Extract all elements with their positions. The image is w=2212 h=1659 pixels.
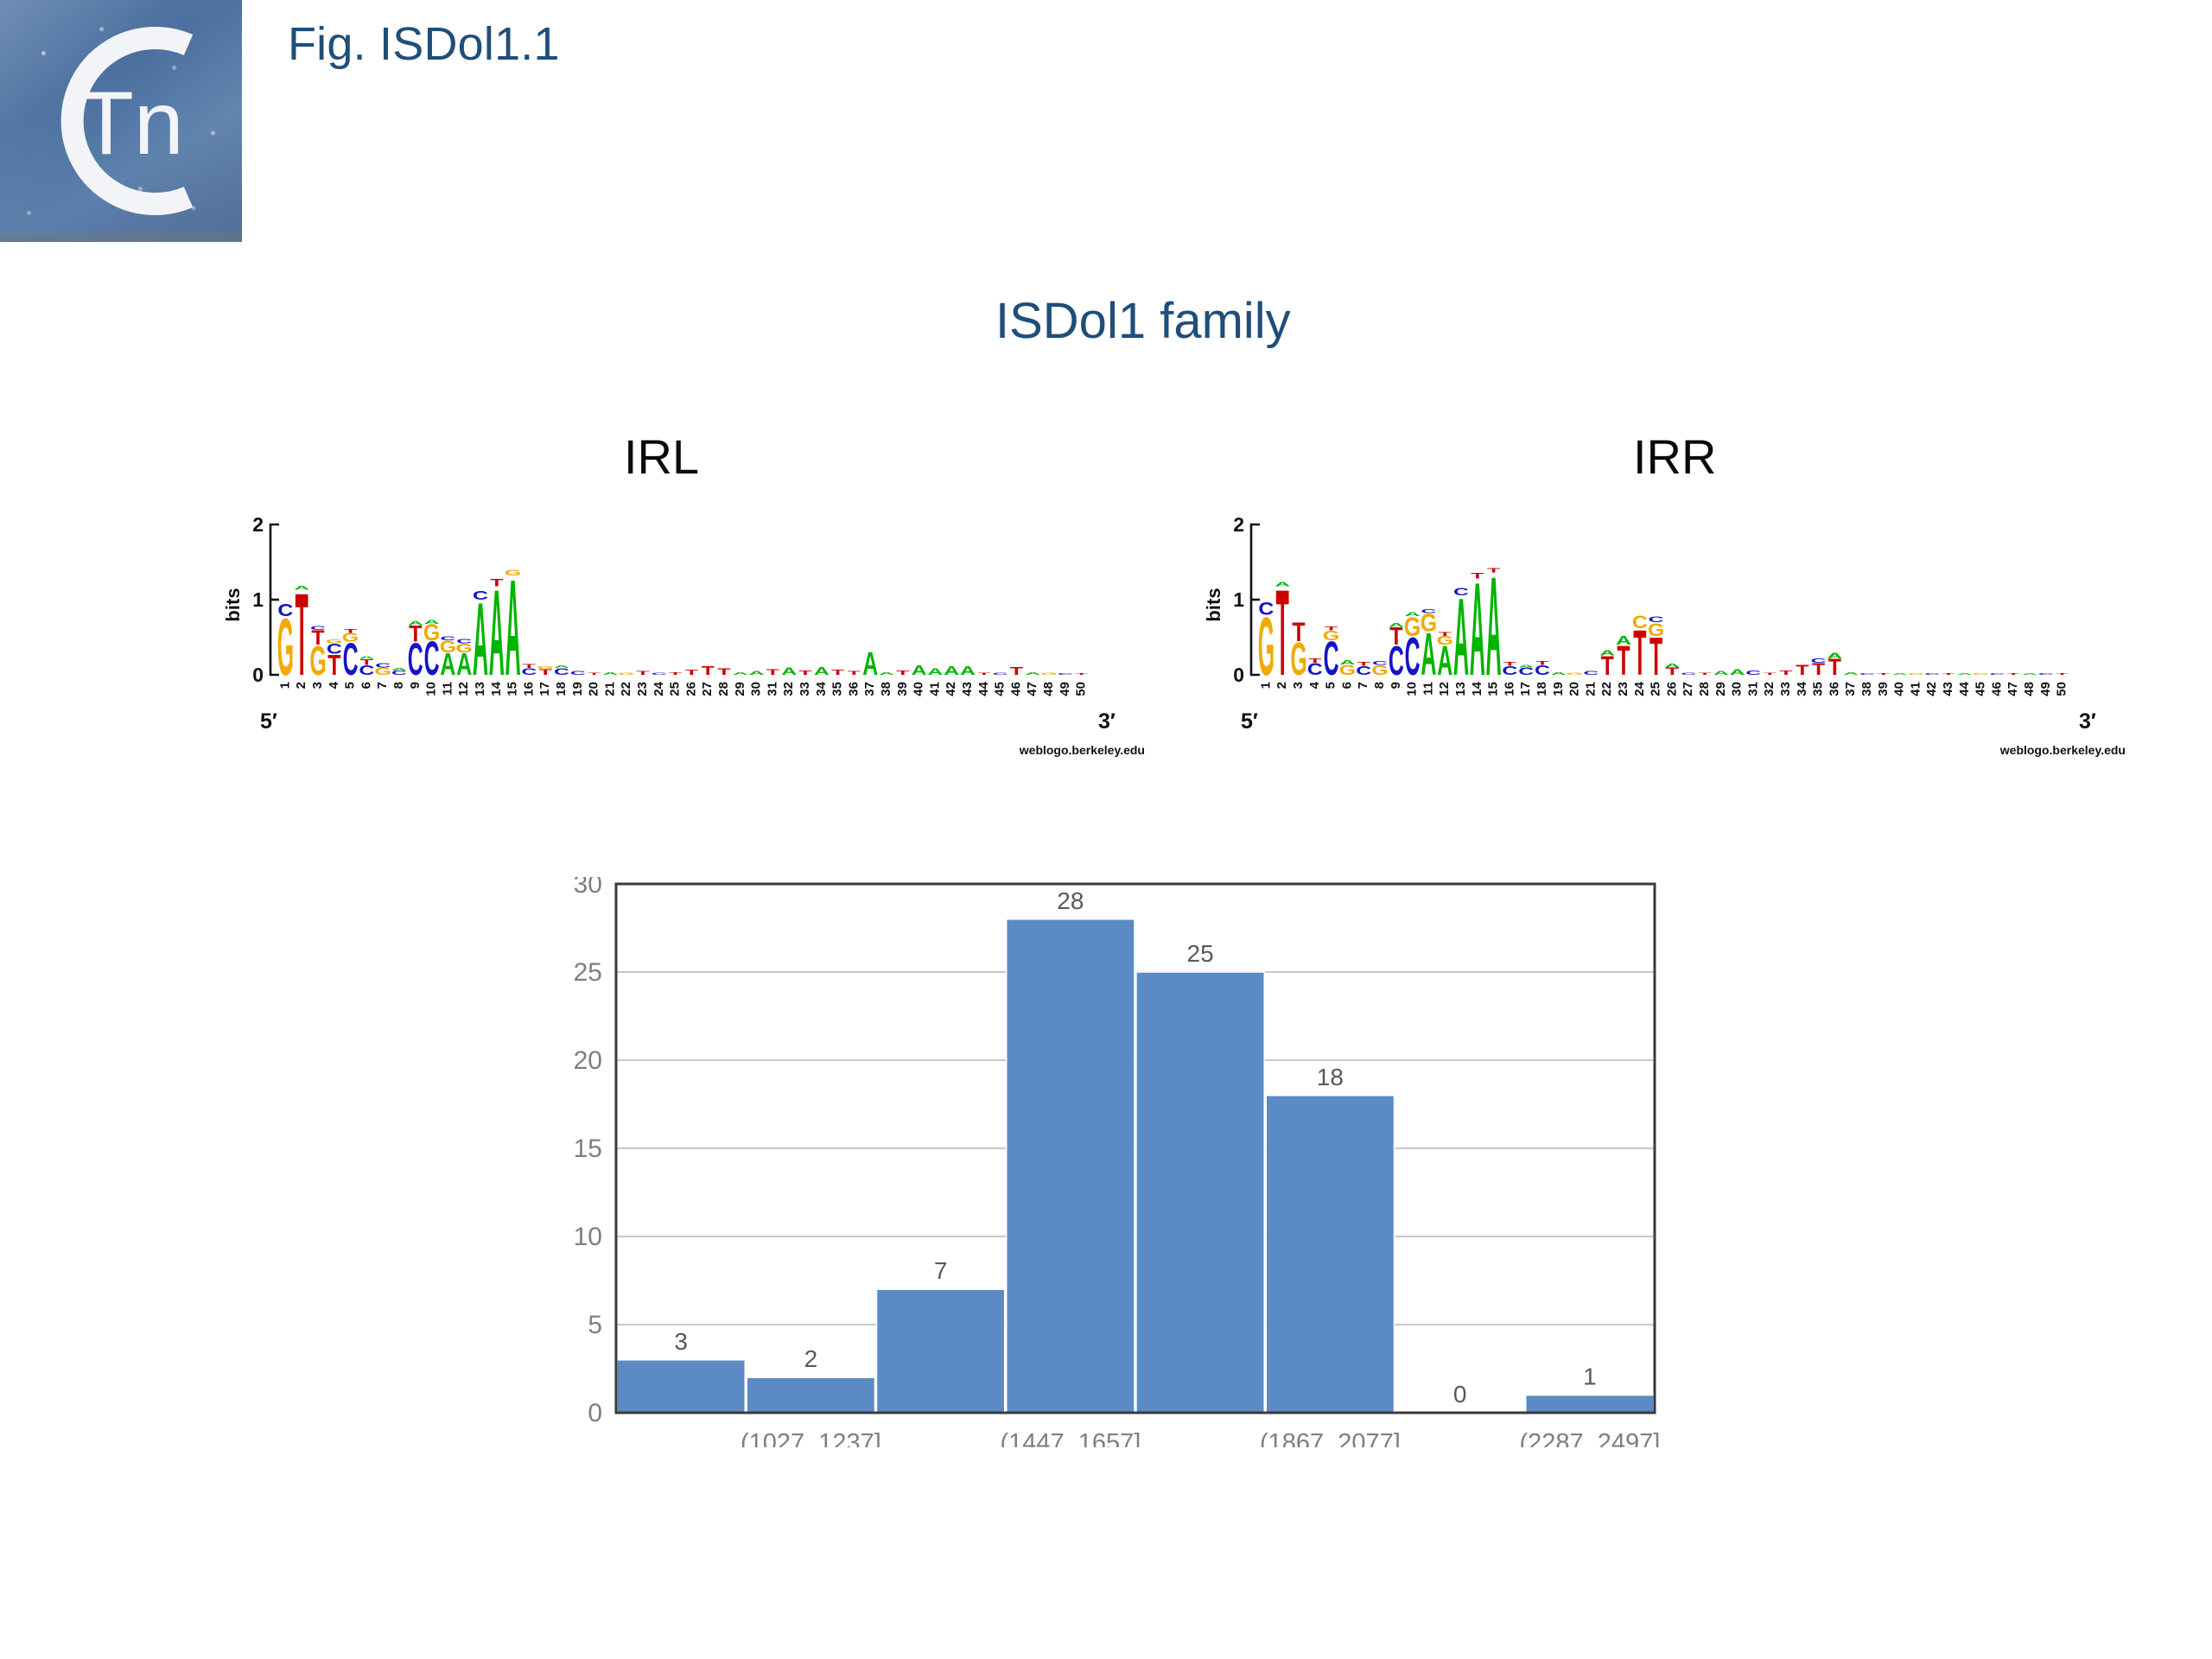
- bar-value-label: 25: [1187, 940, 1214, 967]
- logo-letter: T: [717, 667, 731, 677]
- svg-text:A: A: [1892, 673, 1908, 676]
- position-tick-label: 29: [733, 682, 747, 696]
- position-tick-label: 5: [1324, 682, 1338, 689]
- logo-letter: A: [1664, 663, 1680, 669]
- svg-text:T: T: [1942, 673, 1955, 676]
- position-tick-label: 31: [765, 682, 779, 696]
- y-axis-tick-label: 10: [574, 1223, 602, 1251]
- logo-letter: T: [2007, 673, 2020, 676]
- svg-text:A: A: [1339, 658, 1355, 665]
- svg-text:C: C: [652, 672, 667, 676]
- position-tick-label: 36: [1827, 682, 1841, 696]
- svg-text:C: C: [2038, 673, 2054, 676]
- logo-letter: C: [1745, 669, 1761, 676]
- logo-letter: A: [424, 620, 440, 626]
- three-prime-label: 3′: [1098, 709, 1116, 734]
- position-tick-label: 38: [879, 682, 893, 696]
- svg-text:A: A: [1957, 673, 1973, 676]
- logo-letter: T: [1877, 673, 1890, 676]
- logo-letter: T: [1764, 672, 1777, 676]
- position-tick-label: 35: [1811, 682, 1826, 696]
- svg-text:C: C: [1372, 660, 1388, 666]
- x-axis-category-label: (1027, 1237]: [741, 1429, 881, 1447]
- position-tick-label: 7: [1356, 682, 1370, 689]
- svg-text:T: T: [685, 668, 699, 676]
- svg-text:A: A: [602, 671, 618, 676]
- logo-letter: T: [1503, 661, 1516, 667]
- svg-text:A: A: [1843, 671, 1859, 676]
- svg-text:C: C: [1924, 673, 1940, 676]
- logo-letter: A: [912, 663, 927, 677]
- svg-text:C: C: [1583, 671, 1599, 677]
- x-axis-category-label: (1447, 1657]: [1000, 1429, 1141, 1447]
- svg-text:A: A: [912, 663, 927, 677]
- svg-text:C: C: [456, 638, 472, 645]
- logo-letter: C: [1453, 586, 1469, 598]
- svg-text:A: A: [960, 664, 976, 678]
- position-tick-label: 19: [570, 682, 585, 696]
- ctn-logo-badge: Tn: [0, 0, 242, 242]
- position-tick-label: 22: [1599, 682, 1614, 696]
- position-tick-label: 28: [716, 682, 731, 696]
- logo-letter: T: [798, 669, 811, 676]
- bar-value-label: 3: [674, 1328, 688, 1355]
- svg-text:A: A: [1599, 649, 1615, 657]
- logo-letter: T: [702, 664, 715, 678]
- logo-letter: T: [669, 671, 682, 676]
- position-tick-label: 41: [927, 682, 942, 696]
- position-tick-label: 48: [1041, 682, 1056, 696]
- position-tick-label: 27: [700, 682, 715, 696]
- position-tick-label: 34: [814, 681, 829, 696]
- bits-axis-label: bits: [222, 588, 244, 621]
- position-tick-label: 25: [668, 682, 683, 696]
- position-tick-label: 44: [1957, 681, 1972, 696]
- logo-letter: A: [359, 655, 374, 659]
- position-tick-label: 16: [1502, 682, 1516, 696]
- logo-letter: C: [1924, 673, 1940, 676]
- svg-text:A: A: [862, 645, 878, 683]
- position-tick-label: 49: [2038, 682, 2053, 696]
- position-tick-label: 12: [456, 682, 471, 696]
- histogram-bar: [877, 1289, 1005, 1413]
- position-tick-label: 4: [327, 681, 341, 689]
- logo-letter: A: [602, 671, 618, 676]
- svg-text:A: A: [359, 655, 374, 659]
- position-tick-label: 38: [1859, 682, 1874, 696]
- logo-letter: T: [896, 669, 909, 676]
- svg-text:T: T: [2007, 673, 2020, 676]
- svg-text:C: C: [1421, 608, 1436, 614]
- svg-text:T: T: [1325, 626, 1338, 632]
- svg-text:T: T: [1535, 660, 1548, 666]
- logo-letter: C: [1583, 671, 1599, 677]
- svg-text:T: T: [1764, 672, 1777, 676]
- svg-text:A: A: [1730, 667, 1745, 677]
- logo-letter: A: [749, 671, 765, 677]
- logo-letter: C: [1372, 660, 1388, 666]
- svg-text:T: T: [523, 664, 536, 670]
- svg-text:T: T: [490, 577, 503, 589]
- logo-letter: C: [2038, 673, 2054, 676]
- position-tick-label: 24: [1632, 681, 1647, 696]
- position-tick-label: 23: [1616, 682, 1630, 696]
- position-tick-label: 39: [895, 682, 910, 696]
- logo-letter: A: [391, 666, 407, 671]
- svg-text:T: T: [1439, 631, 1452, 637]
- logo-letter: T: [1698, 672, 1711, 676]
- logo-letter: G: [537, 665, 554, 670]
- logo-letter: A: [1730, 667, 1745, 677]
- logo-letter: A: [733, 671, 748, 676]
- svg-text:G: G: [619, 672, 635, 676]
- logo-letter: A: [814, 665, 829, 678]
- bar-value-label: 1: [1583, 1363, 1597, 1390]
- bits-tick-label: 2: [252, 513, 264, 536]
- position-tick-label: 11: [440, 682, 454, 696]
- bar-value-label: 7: [934, 1257, 948, 1284]
- svg-text:A: A: [2022, 673, 2037, 676]
- histogram-bar: [617, 1360, 745, 1413]
- svg-text:G: G: [1567, 672, 1583, 676]
- position-tick-label: 21: [602, 682, 617, 696]
- position-tick-label: 37: [862, 682, 877, 696]
- svg-text:A: A: [1827, 651, 1842, 660]
- position-tick-label: 3: [1291, 682, 1306, 689]
- logo-letter: A: [2022, 673, 2037, 676]
- logo-letter: C: [1421, 608, 1436, 614]
- logo-letter: T: [685, 668, 699, 676]
- logo-letter: G: [505, 569, 521, 578]
- logo-letter: C: [277, 600, 293, 620]
- logo-letter: A: [1389, 622, 1404, 628]
- logo-letter: T: [1325, 626, 1338, 632]
- bar-value-label: 2: [804, 1345, 818, 1372]
- position-tick-label: 29: [1713, 682, 1728, 696]
- svg-text:A: A: [1616, 634, 1631, 648]
- svg-text:T: T: [798, 669, 811, 676]
- svg-text:G: G: [326, 639, 342, 645]
- logo-letter: C: [1058, 673, 1073, 676]
- logo-letter: T: [977, 672, 990, 676]
- svg-text:C: C: [310, 625, 326, 631]
- svg-text:C: C: [1859, 673, 1875, 676]
- logo-letter: C: [1649, 614, 1664, 624]
- position-tick-label: 37: [1843, 682, 1858, 696]
- logo-letter: A: [1405, 612, 1421, 618]
- position-tick-label: 30: [749, 682, 764, 696]
- svg-text:T: T: [702, 664, 715, 678]
- three-prime-label: 3′: [2079, 709, 2096, 734]
- svg-text:C: C: [993, 672, 1008, 676]
- svg-text:C: C: [1681, 672, 1696, 676]
- position-tick-label: 1: [1258, 682, 1273, 689]
- svg-text:A: A: [408, 620, 423, 626]
- position-tick-label: 18: [1535, 682, 1549, 696]
- svg-text:G: G: [1040, 672, 1057, 676]
- position-tick-label: 15: [505, 682, 520, 696]
- position-tick-label: 17: [537, 682, 552, 696]
- svg-text:T: T: [1471, 571, 1484, 581]
- logo-letter: T: [344, 628, 357, 634]
- histogram-bar: [1136, 972, 1264, 1413]
- logo-letter: T: [490, 577, 503, 589]
- y-axis-tick-label: 5: [588, 1311, 602, 1339]
- logo-letter: C: [1811, 657, 1827, 664]
- logo-letter: T: [1292, 616, 1305, 646]
- position-tick-label: 24: [652, 681, 666, 696]
- svg-text:A: A: [733, 671, 748, 676]
- position-tick-label: 23: [635, 682, 650, 696]
- irr-label: IRR: [1633, 429, 1716, 485]
- svg-text:A: A: [1025, 671, 1040, 676]
- logo-letter: A: [879, 671, 894, 676]
- position-tick-label: 50: [1074, 682, 1089, 696]
- logo-letter: T: [2056, 673, 2069, 676]
- position-tick-label: 19: [1551, 682, 1566, 696]
- svg-text:T: T: [896, 669, 909, 676]
- logo-letter: T: [848, 671, 861, 677]
- svg-text:T: T: [1877, 673, 1890, 676]
- position-tick-label: 43: [1941, 682, 1955, 696]
- svg-text:T: T: [1779, 669, 1792, 676]
- logo-letter: A: [408, 620, 423, 626]
- svg-text:C: C: [1058, 673, 1073, 676]
- position-tick-label: 13: [1453, 682, 1468, 696]
- logo-letter: T: [766, 667, 780, 677]
- svg-text:T: T: [848, 671, 861, 677]
- bits-tick-label: 0: [252, 664, 264, 686]
- logo-letter: A: [1551, 671, 1567, 676]
- logo-letter: G: [1040, 672, 1057, 676]
- svg-text:C: C: [473, 589, 488, 603]
- position-tick-label: 28: [1697, 682, 1712, 696]
- logo-letter: G: [619, 672, 635, 676]
- logo-letter: A: [1599, 649, 1615, 657]
- logo-letter: C: [440, 636, 455, 642]
- position-tick-label: 32: [781, 682, 796, 696]
- svg-text:T: T: [1487, 567, 1500, 574]
- logo-letter: C: [1258, 598, 1274, 619]
- svg-text:C: C: [1989, 673, 2005, 676]
- svg-text:A: A: [1274, 581, 1290, 588]
- position-tick-label: 2: [294, 682, 308, 689]
- logo-letter: T: [1796, 663, 1808, 678]
- position-tick-label: 34: [1795, 681, 1809, 696]
- position-tick-label: 10: [424, 682, 439, 696]
- logo-letter: C: [993, 672, 1008, 676]
- svg-text:T: T: [977, 672, 990, 676]
- position-tick-label: 26: [683, 682, 698, 696]
- logo-letter: C: [473, 589, 488, 603]
- y-axis-tick-label: 0: [588, 1399, 602, 1427]
- logo-letter: T: [588, 672, 601, 676]
- svg-text:C: C: [1632, 612, 1648, 632]
- position-tick-label: 7: [375, 682, 390, 689]
- histogram-bar: [1266, 1096, 1394, 1413]
- logo-letter: C: [1632, 612, 1648, 632]
- svg-text:T: T: [831, 668, 845, 676]
- logo-letter: C: [1859, 673, 1875, 676]
- irl-label: IRL: [624, 429, 699, 485]
- position-tick-label: 25: [1649, 682, 1663, 696]
- position-tick-label: 26: [1664, 682, 1679, 696]
- ctn-logo-graphic: Tn: [0, 0, 242, 242]
- svg-text:T: T: [1357, 661, 1370, 667]
- histogram-bar: [1526, 1395, 1654, 1413]
- histogram-bar: [747, 1377, 874, 1413]
- svg-text:T: T: [588, 672, 601, 676]
- position-tick-label: 21: [1583, 682, 1598, 696]
- logo-letter: G: [326, 639, 342, 645]
- logo-letter: C: [652, 672, 667, 676]
- logo-letter: T: [1779, 669, 1792, 676]
- logo-letter: T: [831, 668, 845, 676]
- logo-letter: A: [927, 667, 943, 677]
- y-axis-tick-label: 30: [574, 877, 602, 899]
- svg-text:T: T: [344, 628, 357, 634]
- x-axis-category-label: (2287, 2497]: [1519, 1429, 1660, 1447]
- logo-letter: A: [1957, 673, 1973, 676]
- svg-text:T: T: [2056, 673, 2069, 676]
- svg-text:A: A: [391, 666, 407, 671]
- position-tick-label: 40: [912, 682, 926, 696]
- svg-text:C: C: [1258, 598, 1274, 619]
- position-tick-label: 36: [846, 682, 861, 696]
- bar-value-label: 0: [1453, 1381, 1467, 1408]
- weblogo-watermark: weblogo.berkeley.edu: [1019, 743, 1145, 757]
- position-tick-label: 12: [1437, 682, 1452, 696]
- svg-text:C: C: [1453, 586, 1469, 598]
- position-tick-label: 43: [960, 682, 975, 696]
- svg-text:C: C: [375, 662, 391, 669]
- position-tick-label: 16: [521, 682, 536, 696]
- logo-letter: A: [1616, 634, 1631, 648]
- svg-text:T: T: [1308, 657, 1321, 664]
- svg-text:A: A: [424, 620, 440, 626]
- weblogo-watermark: weblogo.berkeley.edu: [1999, 743, 2126, 757]
- svg-text:T: T: [1503, 661, 1516, 667]
- svg-text:A: A: [927, 667, 943, 677]
- svg-text:A: A: [1518, 664, 1534, 668]
- logo-letter: T: [1535, 660, 1548, 666]
- position-tick-label: 15: [1486, 682, 1501, 696]
- y-axis-tick-label: 20: [574, 1046, 602, 1075]
- svg-text:C: C: [1811, 657, 1827, 664]
- svg-text:T: T: [669, 671, 682, 676]
- position-tick-label: 44: [976, 681, 991, 696]
- position-tick-label: 35: [830, 682, 845, 696]
- position-tick-label: 11: [1421, 682, 1435, 696]
- position-tick-label: 47: [1025, 682, 1039, 696]
- position-tick-label: 5: [343, 682, 358, 689]
- five-prime-label: 5′: [260, 709, 277, 734]
- bar-value-label: 18: [1317, 1064, 1344, 1090]
- logo-letter: G: [1908, 673, 1924, 676]
- sequence-logo-irl: bits012GCTAGTCTCGCGTCTAGCCACTACGAAGCAGCA…: [220, 505, 1154, 782]
- svg-text:A: A: [1664, 663, 1680, 669]
- logo-letter: T: [523, 664, 536, 670]
- histogram-bar: [1007, 919, 1135, 1413]
- logo-letter: A: [1713, 671, 1729, 677]
- logo-letter: T: [1308, 657, 1321, 664]
- bits-tick-label: 1: [1233, 588, 1244, 611]
- logo-letter: A: [1339, 658, 1355, 665]
- y-axis-tick-label: 25: [574, 958, 602, 987]
- position-tick-label: 33: [798, 682, 812, 696]
- logo-letter: T: [1942, 673, 1955, 676]
- svg-text:T: T: [1292, 616, 1305, 646]
- position-tick-label: 30: [1730, 682, 1745, 696]
- logo-letter: G: [1973, 673, 1989, 676]
- logo-letter: A: [1892, 673, 1908, 676]
- logo-letter: T: [1075, 673, 1088, 676]
- logo-letter: G: [1567, 672, 1583, 676]
- position-tick-label: 45: [993, 682, 1007, 696]
- position-tick-label: 33: [1778, 682, 1793, 696]
- logo-letter: T: [1010, 665, 1023, 678]
- position-tick-label: 49: [1058, 682, 1072, 696]
- svg-text:C: C: [1745, 669, 1761, 676]
- logo-letter: T: [636, 671, 649, 677]
- svg-text:A: A: [781, 666, 797, 678]
- svg-text:T: T: [717, 667, 731, 677]
- svg-text:A: A: [554, 664, 569, 669]
- logo-letter: A: [1274, 581, 1290, 588]
- logo-letter: A: [554, 664, 569, 669]
- logo-letter: T: [1439, 631, 1452, 637]
- svg-text:G: G: [1908, 673, 1924, 676]
- bits-tick-label: 1: [252, 588, 264, 611]
- position-tick-label: 42: [944, 682, 958, 696]
- logo-bottom-shadow: [0, 230, 242, 242]
- svg-text:T: T: [1075, 673, 1088, 676]
- logo-letter: C: [1989, 673, 2005, 676]
- logo-tn-text: Tn: [79, 73, 183, 174]
- logo-letter: C: [1681, 672, 1696, 676]
- svg-text:A: A: [294, 585, 309, 591]
- svg-text:G: G: [537, 665, 554, 670]
- position-tick-label: 18: [554, 682, 569, 696]
- svg-text:C: C: [570, 671, 586, 677]
- logo-letter: A: [1025, 671, 1040, 676]
- svg-text:T: T: [636, 671, 649, 677]
- logo-letter: C: [310, 625, 326, 631]
- svg-text:A: A: [1405, 612, 1421, 618]
- logo-letter: A: [944, 664, 959, 678]
- position-tick-label: 6: [359, 682, 373, 689]
- logo-letter: C: [456, 638, 472, 645]
- bar-value-label: 28: [1057, 887, 1084, 914]
- position-tick-label: 46: [1989, 682, 2004, 696]
- position-tick-label: 8: [391, 682, 406, 689]
- svg-text:A: A: [944, 664, 959, 678]
- logo-letter: A: [862, 645, 878, 683]
- svg-text:C: C: [1649, 614, 1664, 624]
- position-tick-label: 10: [1405, 682, 1420, 696]
- svg-text:G: G: [1973, 673, 1989, 676]
- svg-text:A: A: [879, 671, 894, 676]
- svg-text:A: A: [749, 671, 765, 677]
- y-axis-tick-label: 15: [574, 1135, 602, 1163]
- position-tick-label: 27: [1681, 682, 1695, 696]
- logo-letter: A: [294, 585, 309, 591]
- logo-letter: C: [375, 662, 391, 669]
- position-tick-label: 4: [1307, 681, 1322, 689]
- x-axis-category-label: (1867, 2077]: [1260, 1429, 1401, 1447]
- svg-text:T: T: [1796, 663, 1808, 678]
- logo-letter: T: [1357, 661, 1370, 667]
